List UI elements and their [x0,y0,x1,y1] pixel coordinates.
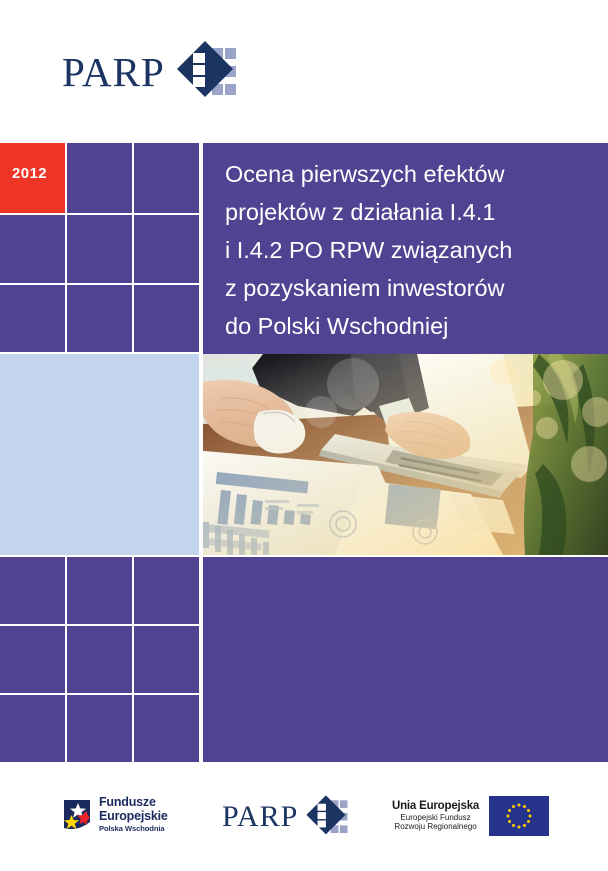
year-badge: 2012 [0,143,65,213]
mosaic-tile [134,285,199,352]
mosaic-tile [67,626,132,693]
mosaic-tile [0,557,65,624]
eu-line-1: Unia Europejska [392,800,479,813]
fundusze-europejskie-logo: Fundusze Europejskie Polska Wschodnia [62,796,168,833]
cover-page: PARP 2012 [0,0,608,871]
fe-line-1: Fundusze [99,796,168,810]
parp-logo-header: PARP [62,36,252,108]
parp-diamond-icon [175,39,241,105]
mosaic-tile [0,695,65,762]
mosaic-tile [134,557,199,624]
footer-logo-bar: Fundusze Europejskie Polska Wschodnia PA… [0,786,608,852]
fundusze-europejskie-text: Fundusze Europejskie Polska Wschodnia [99,796,168,833]
mosaic-tile [67,143,132,213]
cover-photo [203,354,608,555]
fundusze-europejskie-star-icon [62,798,92,832]
page-title: Ocena pierwszych efektów projektów z dzi… [225,155,598,345]
title-panel: Ocena pierwszych efektów projektów z dzi… [203,143,608,354]
mosaic-tile-accent [0,354,199,555]
mosaic-tile [134,143,199,213]
mosaic-grid: 2012 [0,143,201,762]
fe-line-2: Europejskie [99,810,168,824]
eu-line-3: Rozwoju Regionalnego [392,823,479,832]
bottom-color-block [203,557,608,762]
fe-line-3: Polska Wschodnia [99,825,168,833]
year-label: 2012 [12,165,47,182]
mosaic-tile [67,557,132,624]
parp-wordmark-footer: PARP [222,802,298,832]
parp-diamond-icon-footer [305,794,351,840]
mosaic-tile [134,695,199,762]
mosaic-tile [0,285,65,352]
parp-wordmark: PARP [62,52,165,93]
mosaic-tile [0,626,65,693]
eu-flag-icon [489,796,549,836]
unia-europejska-text: Unia Europejska Europejski Fundusz Rozwo… [392,800,479,833]
mosaic-tile [134,626,199,693]
unia-europejska-logo: Unia Europejska Europejski Fundusz Rozwo… [392,796,549,836]
mosaic-tile [67,215,132,283]
mosaic-tile [67,285,132,352]
parp-logo-footer: PARP [222,794,351,840]
mosaic-tile [0,215,65,283]
mosaic-tile [134,215,199,283]
mosaic-tile [67,695,132,762]
